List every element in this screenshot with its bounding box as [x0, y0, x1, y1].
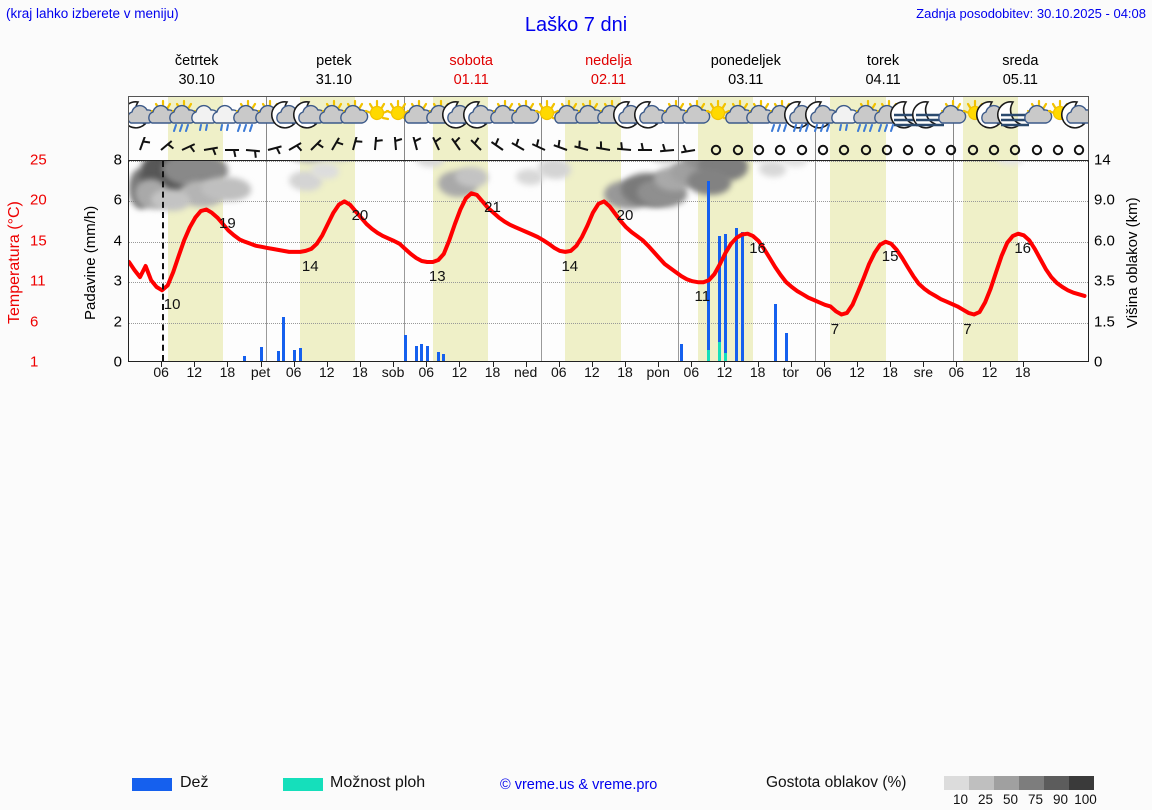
cloud-density-ramp-labels: 1025507590100 [936, 792, 1106, 810]
day-header-3: nedelja02.11 [540, 52, 677, 94]
x-axis-tick-mark [890, 362, 891, 367]
day-header-4: ponedeljek03.11 [677, 52, 814, 94]
x-axis-tick-mark [327, 362, 328, 367]
x-axis-tick-mark [559, 362, 560, 367]
cloud-density-swatch-10 [944, 776, 969, 790]
cloud-height-tick-label: 1.5 [1094, 313, 1115, 330]
cloud-density-tick-label: 25 [978, 792, 993, 807]
day-date: 02.11 [540, 71, 677, 90]
day-date: 03.11 [677, 71, 814, 90]
cloud-height-tick-label: 9.0 [1094, 192, 1115, 209]
temperature-max-label: 21 [484, 199, 501, 216]
temperature-max-label: 19 [219, 215, 236, 232]
cloud-height-tick-label: 14 [1094, 152, 1111, 169]
day-date: 30.10 [128, 71, 265, 90]
temperature-tick-label: 6 [30, 313, 38, 330]
precipitation-tick-label: 0 [108, 354, 122, 371]
x-axis-tick-mark [592, 362, 593, 367]
day-header-2: sobota01.11 [403, 52, 540, 94]
x-axis-tick-mark [294, 362, 295, 367]
day-name: torek [814, 52, 951, 71]
temperature-min-label: 14 [561, 258, 578, 275]
x-axis-tick-mark [261, 362, 262, 367]
precipitation-tick-label: 8 [108, 152, 122, 169]
temperature-max-label: 15 [882, 248, 899, 265]
cloud-height-tick-label: 6.0 [1094, 232, 1115, 249]
x-axis-tick-mark [923, 362, 924, 367]
rain-legend-swatch [132, 778, 172, 791]
temperature-curve [129, 161, 1089, 362]
cloud-density-tick-label: 50 [1003, 792, 1018, 807]
cloud-density-swatch-50 [994, 776, 1019, 790]
weather-icon-strip [128, 96, 1089, 160]
wind-barb-icon [1059, 137, 1089, 159]
x-axis-tick-mark [824, 362, 825, 367]
cloud-density-tick-label: 10 [953, 792, 968, 807]
temperature-min-label: 11 [695, 288, 711, 305]
temperature-tick-label: 11 [30, 273, 46, 290]
shower-legend-label: Možnost ploh [330, 774, 425, 792]
x-axis-tick-mark [426, 362, 427, 367]
day-header-0: četrtek30.10 [128, 52, 265, 94]
temperature-tick-label: 20 [30, 192, 47, 209]
temperature-tick-label: 1 [30, 354, 38, 371]
day-name: nedelja [540, 52, 677, 71]
x-axis-tick-mark [1023, 362, 1024, 367]
x-axis-tick-mark [526, 362, 527, 367]
x-axis-tick-mark [227, 362, 228, 367]
rain-legend-label: Dež [180, 774, 208, 792]
x-axis-tick-mark [360, 362, 361, 367]
day-name: sobota [403, 52, 540, 71]
day-header-5: torek04.11 [814, 52, 951, 94]
temperature-axis-title: Temperatura (°C) [6, 168, 24, 358]
day-date: 31.10 [265, 71, 402, 90]
day-name: ponedeljek [677, 52, 814, 71]
x-axis-tick-mark [691, 362, 692, 367]
current-time-line [162, 161, 164, 361]
temperature-max-label: 16 [1014, 240, 1031, 257]
chart-legend: Dež Možnost ploh © vreme.us & vreme.pro … [0, 386, 1152, 430]
precipitation-axis-title: Padavine (mm/h) [82, 168, 99, 358]
cloud-density-tick-label: 90 [1053, 792, 1068, 807]
cloud-density-swatch-100 [1069, 776, 1094, 790]
precipitation-tick-label: 3 [108, 273, 122, 290]
day-name: četrtek [128, 52, 265, 71]
temperature-max-label: 20 [352, 207, 369, 224]
temperature-max-label: 16 [749, 240, 766, 257]
copyright-link[interactable]: © vreme.us & vreme.pro [500, 777, 657, 793]
cloud-density-swatch-75 [1019, 776, 1044, 790]
cloud-density-swatch-90 [1044, 776, 1069, 790]
temperature-min-label: 13 [429, 268, 446, 285]
x-axis-tick-mark [625, 362, 626, 367]
cloud-density-tick-label: 100 [1074, 792, 1097, 807]
temperature-min-label: 7 [831, 321, 839, 338]
x-axis-tick-mark [393, 362, 394, 367]
x-axis-tick-mark [758, 362, 759, 367]
x-axis-tick-mark [956, 362, 957, 367]
x-axis-tick-mark [791, 362, 792, 367]
x-axis-tick-mark [459, 362, 460, 367]
x-axis-tick-mark [990, 362, 991, 367]
day-header-1: petek31.10 [265, 52, 402, 94]
precipitation-tick-label: 6 [108, 192, 122, 209]
day-date: 01.11 [403, 71, 540, 90]
shower-legend-swatch [283, 778, 323, 791]
temperature-min-label: 10 [164, 296, 181, 313]
x-axis-tick-mark [493, 362, 494, 367]
day-name: petek [265, 52, 402, 71]
precipitation-tick-label: 2 [108, 313, 122, 330]
cloud-density-swatch-25 [969, 776, 994, 790]
temperature-tick-label: 25 [30, 152, 47, 169]
day-name: sreda [952, 52, 1089, 71]
precipitation-tick-label: 4 [108, 232, 122, 249]
x-axis-tick-mark [161, 362, 162, 367]
temperature-min-label: 7 [963, 321, 971, 338]
day-date: 04.11 [814, 71, 951, 90]
cloud-height-axis-title: Višina oblakov (km) [1124, 168, 1141, 358]
x-axis-tick-mark [194, 362, 195, 367]
x-axis-tick-mark [857, 362, 858, 367]
moon-cloud-icon [1059, 98, 1089, 134]
temperature-tick-label: 15 [30, 232, 47, 249]
last-update-label: Zadnja posodobitev: 30.10.2025 - 04:08 [916, 6, 1146, 21]
temperature-max-label: 20 [617, 207, 634, 224]
cloud-height-tick-label: 0 [1094, 354, 1102, 371]
cloud-height-tick-label: 3.5 [1094, 273, 1115, 290]
x-axis-tick-mark [724, 362, 725, 367]
x-axis-tick-mark [658, 362, 659, 367]
cloud-density-color-ramp [944, 776, 1094, 790]
temperature-min-label: 14 [302, 258, 319, 275]
day-header-row: četrtek30.10petek31.10sobota01.11nedelja… [128, 52, 1089, 94]
cloud-density-tick-label: 75 [1028, 792, 1043, 807]
cloud-density-legend-label: Gostota oblakov (%) [766, 774, 906, 792]
day-date: 05.11 [952, 71, 1089, 90]
meteogram-plot: 10191420132114201116715716 [128, 160, 1089, 362]
day-header-6: sreda05.11 [952, 52, 1089, 94]
